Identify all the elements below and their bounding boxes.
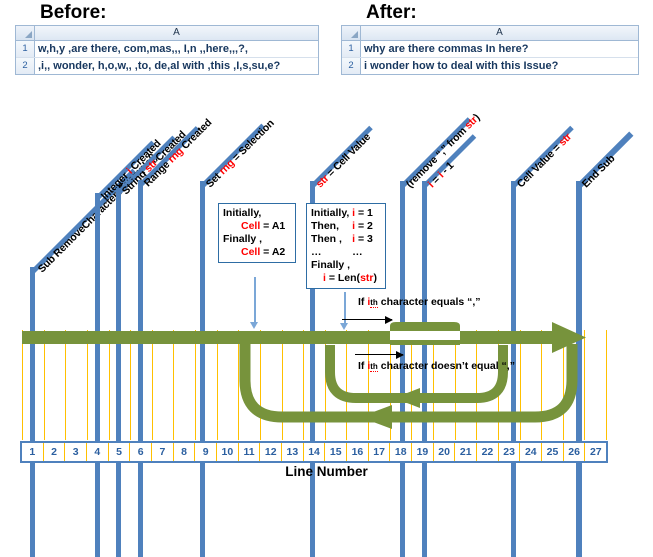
callout-cell-line4: Cell = A2 <box>223 246 291 259</box>
connector-arrow-cell <box>250 277 259 329</box>
line-number-axis: 1 2 3 4 5 6 7 8 9 10 11 12 13 14 15 16 1… <box>20 441 608 463</box>
line-number-cell[interactable]: 19 <box>412 443 434 461</box>
callout-cell-line3: Finally , <box>223 233 291 246</box>
condition-equals-arrow <box>342 319 392 320</box>
line-number-cell[interactable]: 7 <box>152 443 174 461</box>
condition-not-equals: If ith character doesn’t equal “,” <box>358 360 515 372</box>
line-number-cell[interactable]: 22 <box>477 443 499 461</box>
line-number-cell[interactable]: 16 <box>347 443 369 461</box>
line-number-cell[interactable]: 18 <box>390 443 412 461</box>
diagram-canvas: Before: A 1 w,h,y ,are there, com,mas,,,… <box>0 0 653 484</box>
line-number-cell[interactable]: 6 <box>130 443 152 461</box>
line-number-cell[interactable]: 9 <box>195 443 217 461</box>
condition-equals: If ith character equals “,” <box>358 296 481 308</box>
callout-cell-line2: Cell = A1 <box>223 220 291 233</box>
line-number-cell[interactable]: 8 <box>174 443 196 461</box>
axis-label: Line Number <box>0 464 653 479</box>
line-number-cell[interactable]: 13 <box>282 443 304 461</box>
line-number-cell[interactable]: 15 <box>325 443 347 461</box>
line-number-cell[interactable]: 25 <box>542 443 564 461</box>
line-number-cell[interactable]: 11 <box>239 443 261 461</box>
condition-not-equals-arrow <box>355 354 403 355</box>
line-number-cell[interactable]: 17 <box>369 443 391 461</box>
callout-cell-values: Initially, Cell = A1 Finally , Cell = A2 <box>218 203 296 263</box>
callout-i-row-label: … <box>311 246 352 259</box>
line-number-cell[interactable]: 4 <box>87 443 109 461</box>
callout-i-values: Initially, i = 1 Then, i = 2 Then , i = … <box>306 203 386 289</box>
line-number-cell[interactable]: 20 <box>434 443 456 461</box>
callout-i-row-label: Then, <box>311 220 352 233</box>
callout-i-row-label: Then , <box>311 233 352 246</box>
line-number-cell[interactable]: 26 <box>564 443 586 461</box>
line-number-cell[interactable]: 10 <box>217 443 239 461</box>
line-number-cell[interactable]: 23 <box>499 443 521 461</box>
line-number-cell[interactable]: 14 <box>304 443 326 461</box>
line-number-cell[interactable]: 21 <box>455 443 477 461</box>
line-number-cell[interactable]: 27 <box>585 443 606 461</box>
callout-i-row-label: Initially, <box>311 207 352 220</box>
line-number-cell[interactable]: 24 <box>520 443 542 461</box>
line-number-cell[interactable]: 2 <box>44 443 66 461</box>
line-number-cell[interactable]: 3 <box>65 443 87 461</box>
callout-cell-line1: Initially, <box>223 207 291 220</box>
callout-i-row-label: Finally , <box>311 259 352 272</box>
connector-arrow-i <box>340 292 349 330</box>
line-number-cell[interactable]: 5 <box>109 443 131 461</box>
line-number-cell[interactable]: 12 <box>260 443 282 461</box>
line-number-cell[interactable]: 1 <box>22 443 44 461</box>
callout-i-final: i = Len(str) <box>311 272 381 285</box>
